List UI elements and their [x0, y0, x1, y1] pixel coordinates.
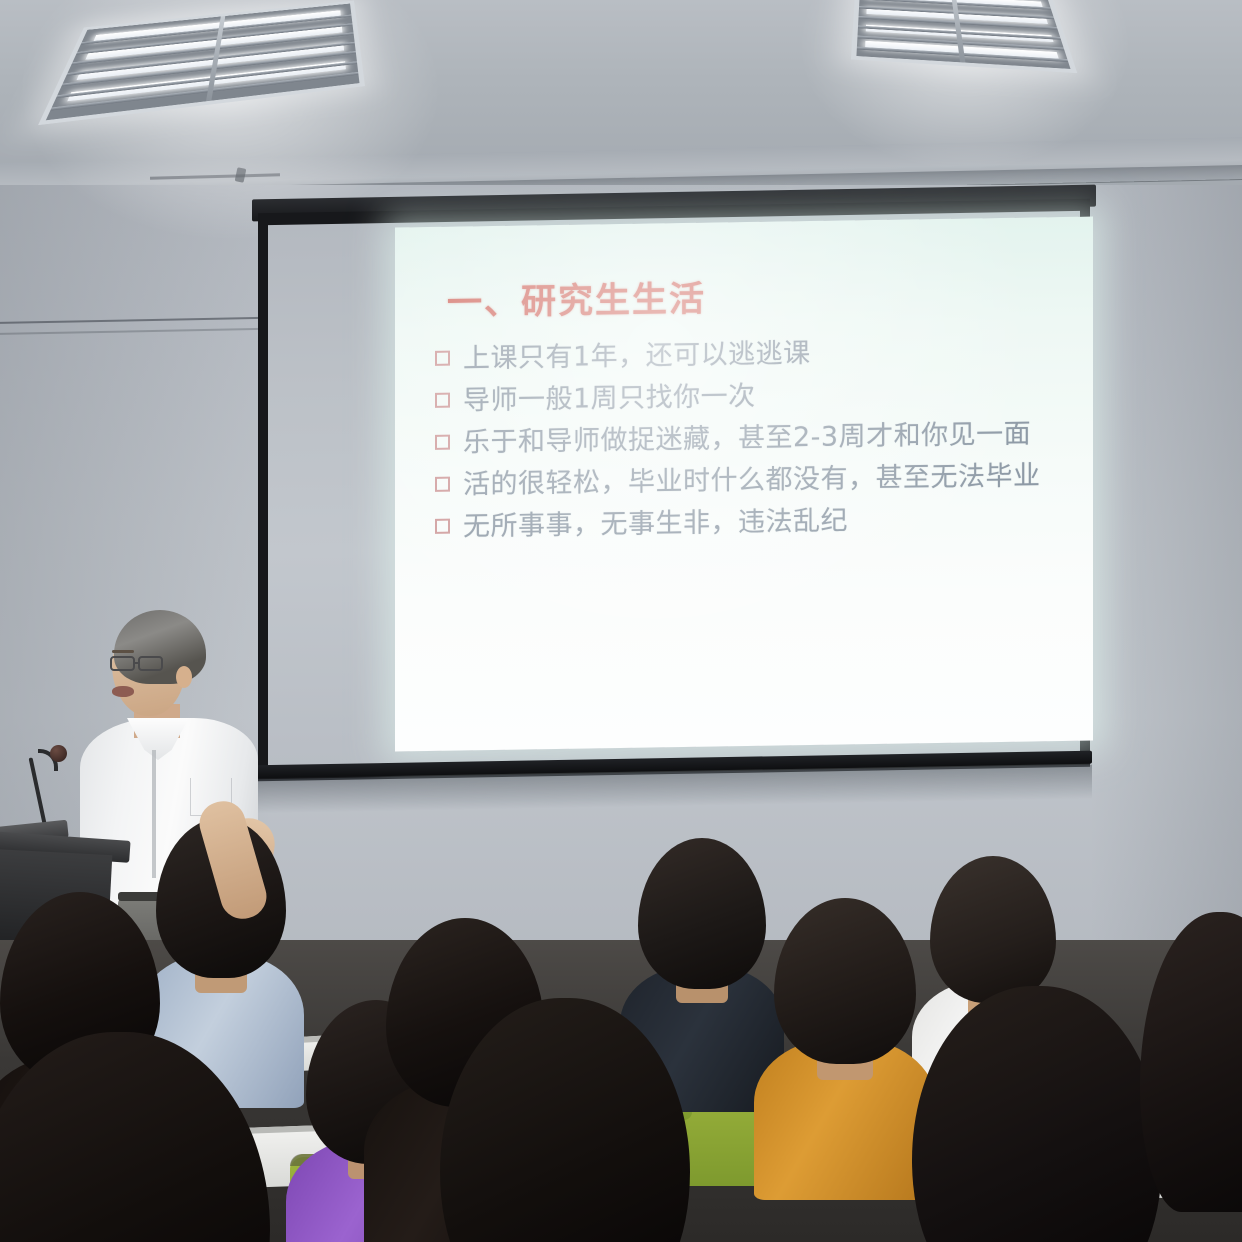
slide-bullet-item: 乐于和导师做捉迷藏，甚至2-3周才和你见一面	[435, 416, 1067, 461]
slide-bullet-item: 导师一般1周只找你一次	[435, 374, 1067, 419]
attendee-head	[440, 998, 690, 1242]
presenter-ear	[176, 666, 192, 688]
slide-bullet-item: 无所事事，无事生非，违法乱纪	[435, 500, 1067, 545]
projected-slide: 一、研究生生活 上课只有1年，还可以逃逃课 导师一般1周只找你一次 乐于和导师做…	[395, 217, 1093, 752]
attendee-foreground-center	[440, 998, 690, 1242]
attendee-head	[0, 1032, 270, 1242]
wall-shading-right	[1090, 185, 1242, 945]
bullet-square-icon	[435, 477, 450, 492]
attendee-head	[774, 898, 916, 1064]
slide-bullet-text: 乐于和导师做捉迷藏，甚至2-3周才和你见一面	[463, 417, 1031, 461]
lecture-hall-photo: 一、研究生生活 上课只有1年，还可以逃逃课 导师一般1周只找你一次 乐于和导师做…	[0, 0, 1242, 1242]
attendee-foreground-bottom-left	[0, 1032, 270, 1242]
bullet-square-icon	[435, 351, 450, 366]
projection-screen: 一、研究生生活 上课只有1年，还可以逃逃课 导师一般1周只找你一次 乐于和导师做…	[252, 192, 1096, 784]
presenter-mouth	[112, 686, 134, 697]
slide-bullet-item: 上课只有1年，还可以逃逃课	[435, 332, 1067, 377]
slide-bullet-text: 无所事事，无事生非，违法乱纪	[463, 504, 848, 545]
eyeglasses-icon	[138, 656, 163, 671]
eyeglasses-icon	[110, 656, 135, 671]
slide-bullet-text: 上课只有1年，还可以逃逃课	[463, 336, 811, 377]
attendee-head	[912, 986, 1162, 1242]
presenter-eyebrow	[112, 650, 134, 653]
eyeglasses-bridge	[134, 662, 140, 664]
slide-bullet-item: 活的很轻松，毕业时什么都没有，甚至无法毕业	[435, 458, 1067, 503]
attendee-head	[1140, 912, 1242, 1212]
slide-bullet-text: 导师一般1周只找你一次	[463, 379, 756, 419]
microphone-capsule-icon	[50, 745, 67, 762]
attendee-head	[638, 838, 766, 989]
slide-bullet-list: 上课只有1年，还可以逃逃课 导师一般1周只找你一次 乐于和导师做捉迷藏，甚至2-…	[435, 332, 1067, 545]
attendee-right-edge	[1140, 912, 1242, 1212]
slide-bullet-text: 活的很轻松，毕业时什么都没有，甚至无法毕业	[463, 459, 1041, 503]
bullet-square-icon	[435, 435, 450, 450]
bullet-square-icon	[435, 519, 450, 534]
slide-title: 一、研究生生活	[447, 265, 1067, 326]
bullet-square-icon	[435, 393, 450, 408]
attendee-foreground-right	[912, 986, 1162, 1242]
attendee-orange-shirt	[774, 898, 916, 1158]
attendee-head	[930, 856, 1056, 1003]
gooseneck-microphone	[16, 745, 76, 829]
presenter-hair	[114, 610, 206, 684]
